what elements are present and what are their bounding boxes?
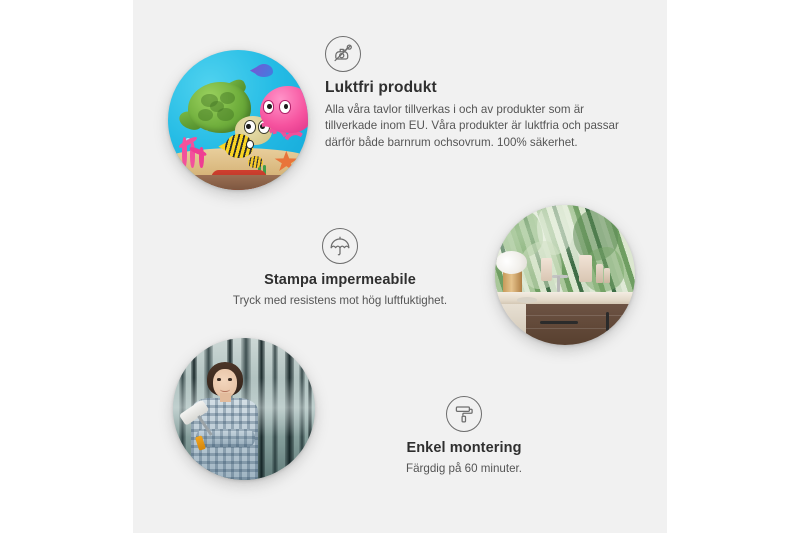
- feature-body: Färgdig på 60 minuter.: [326, 461, 602, 477]
- paint-roller-icon: [446, 396, 482, 432]
- toiletry-bottle: [596, 264, 603, 284]
- feature-title: Stampa impermeabile: [195, 272, 485, 289]
- screenshot-root: Luktfri produkt Alla våra tavlor tillver…: [0, 0, 800, 533]
- photo-woman-painter-forest[interactable]: [173, 338, 315, 480]
- photo-underwater-kids-mural[interactable]: [168, 50, 308, 190]
- blue-fish: [255, 64, 273, 77]
- person-eye: [217, 378, 221, 381]
- white-flowers: [496, 251, 527, 273]
- feature-odour-free: Luktfri produkt Alla våra tavlor tillver…: [325, 36, 625, 151]
- small-yellow-fish: [248, 156, 263, 167]
- person-smile: [220, 386, 230, 391]
- person-neck: [220, 393, 231, 402]
- drawer-handle: [540, 321, 578, 324]
- umbrella-icon: [322, 228, 358, 264]
- turtle-pupil: [246, 124, 251, 129]
- feature-waterproof-print: Stampa impermeabile Tryck med resistens …: [195, 228, 485, 310]
- underwater-scene: [168, 50, 308, 190]
- feature-easy-mounting: Enkel montering Färgdig på 60 minuter.: [326, 396, 602, 478]
- no-fragrance-spray-icon: [325, 36, 361, 72]
- faucet: [557, 276, 560, 291]
- wood-vanity-cabinet: [526, 304, 635, 345]
- feature-title: Enkel montering: [326, 440, 602, 457]
- soap-dish: [517, 297, 537, 303]
- cabinet-handle: [606, 312, 609, 331]
- photo-bathroom-tropical-wallpaper[interactable]: [495, 205, 635, 345]
- feature-body: Alla våra tavlor tillverkas i och av pro…: [325, 102, 625, 151]
- faucet-spout: [552, 275, 567, 278]
- toiletry-bottle: [604, 268, 610, 283]
- feature-title: Luktfri produkt: [325, 79, 625, 98]
- forest-painter-scene: [173, 338, 315, 480]
- product-feature-panel: Luktfri produkt Alla våra tavlor tillver…: [133, 0, 667, 533]
- bathroom-scene: [495, 205, 635, 345]
- feature-body: Tryck med resistens mot hög luftfuktighe…: [195, 293, 485, 309]
- octopus-pupil: [267, 104, 271, 109]
- sea-floor-band: [168, 175, 308, 190]
- towel: [579, 255, 592, 282]
- towel: [541, 258, 552, 280]
